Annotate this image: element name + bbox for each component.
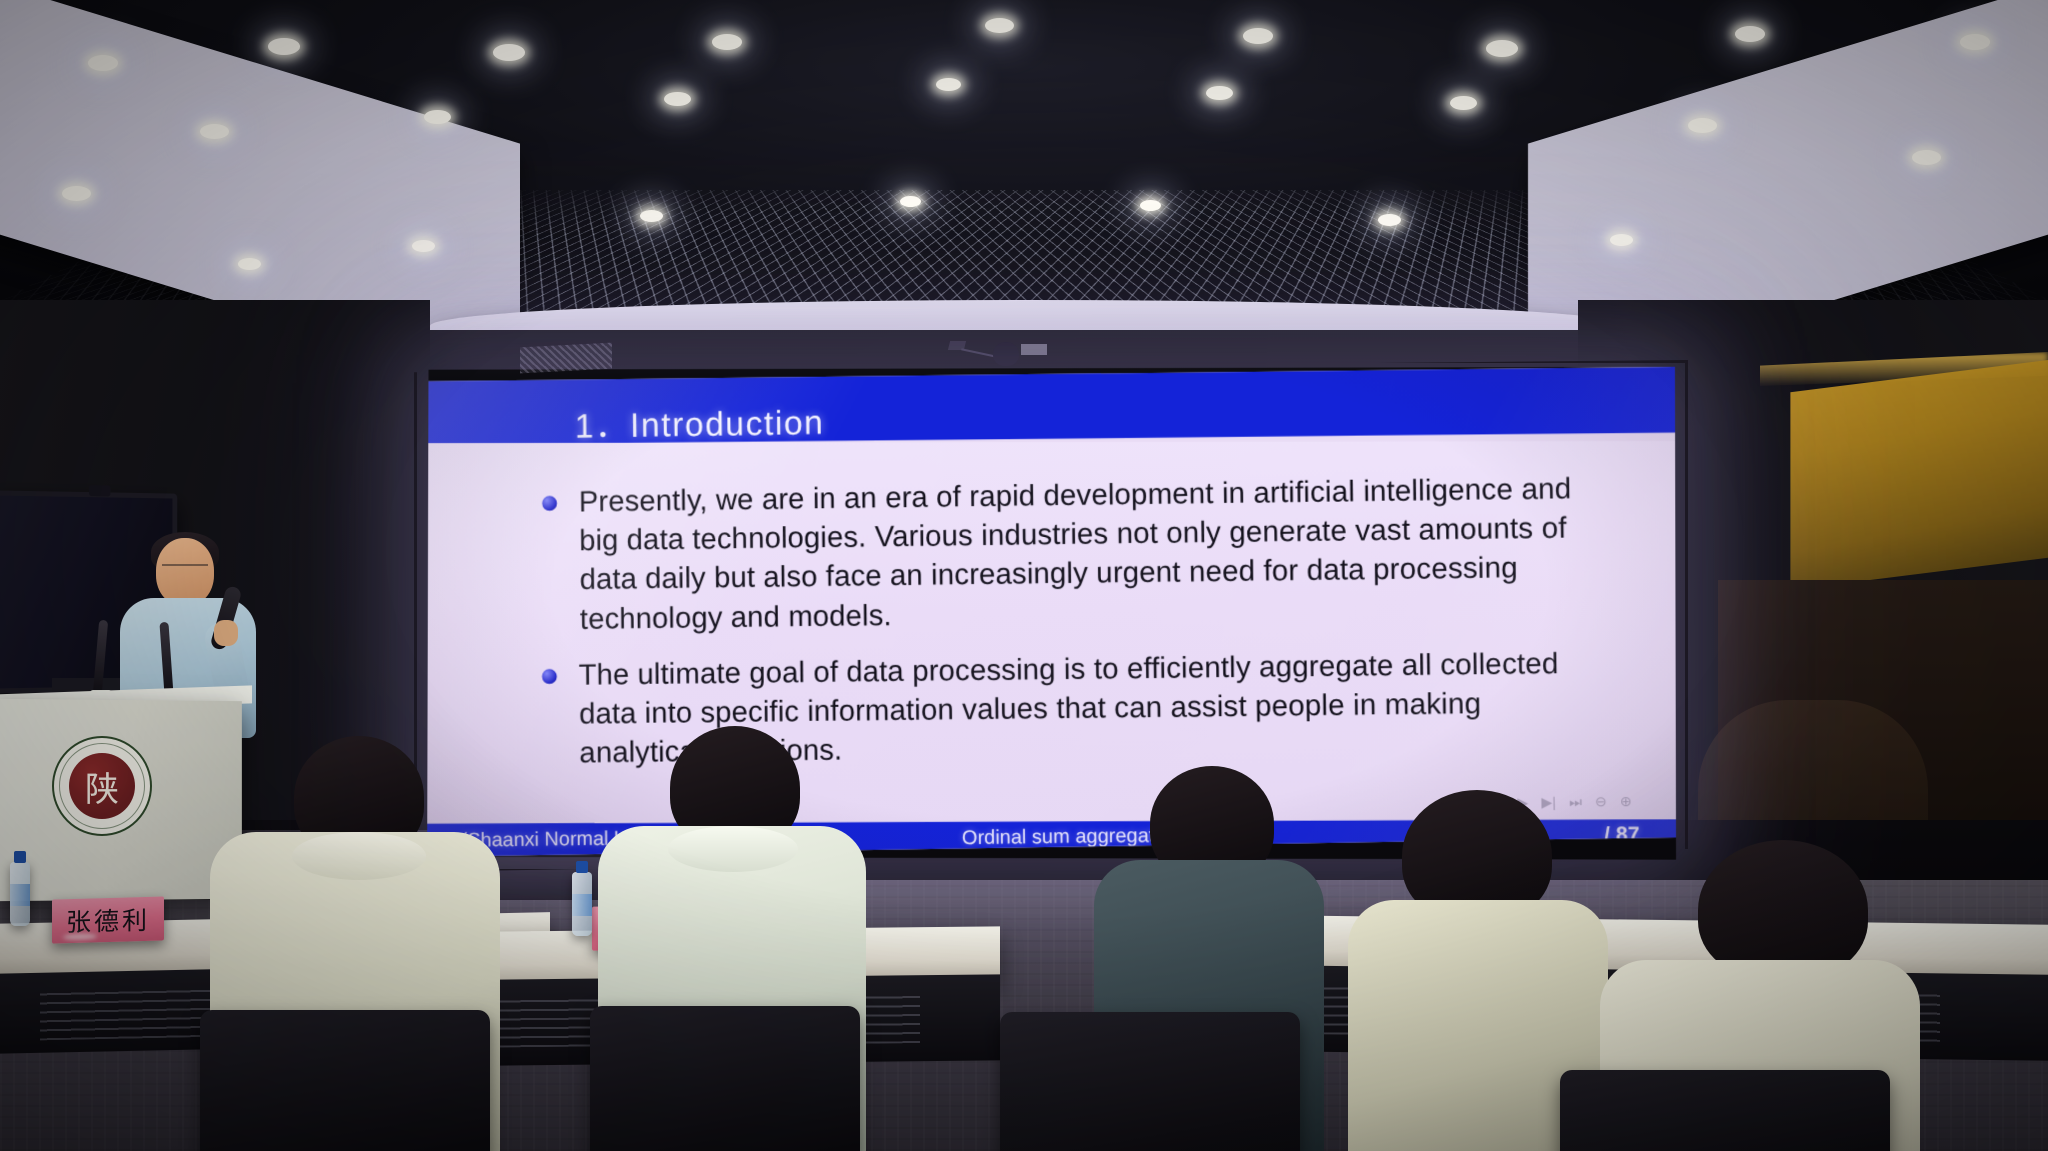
ceiling-downlight xyxy=(664,92,691,106)
ceiling-downlight xyxy=(268,38,300,55)
ceiling-downlight xyxy=(1378,214,1401,226)
ceiling-downlight xyxy=(1140,200,1161,211)
chair-front-center[interactable] xyxy=(590,1006,860,1151)
speaker-hand xyxy=(214,620,238,646)
slide-title: 1．Introduction xyxy=(574,395,824,447)
chair-front-left[interactable] xyxy=(200,1010,490,1151)
attendee-collar xyxy=(292,832,426,880)
chair-far-right[interactable] xyxy=(1560,1070,1890,1151)
water-bottle-1 xyxy=(10,862,30,926)
slide-bullet-1: Presently, we are in an era of rapid dev… xyxy=(542,469,1584,639)
chair-right-1[interactable] xyxy=(1000,1012,1300,1151)
ceiling-downlight xyxy=(493,44,525,61)
ceiling-downlight xyxy=(900,196,921,207)
ceiling-downlight xyxy=(985,18,1014,33)
ceiling-downlight xyxy=(62,186,91,201)
ceiling-downlight xyxy=(936,78,961,91)
ceiling-downlight xyxy=(1450,96,1477,110)
zoom-in-icon[interactable]: ⊕ xyxy=(1619,793,1631,810)
university-emblem: 陕 xyxy=(52,736,152,836)
wall-right-wood-panel xyxy=(1768,360,2048,590)
ceiling-downlight xyxy=(1486,40,1518,57)
camera-label-plate xyxy=(1021,344,1047,355)
ceiling-downlight xyxy=(424,110,451,124)
ceiling-downlight xyxy=(1688,118,1717,133)
lecture-hall-scene: 1．Introduction Presently, we are in an e… xyxy=(0,0,2048,1151)
bullet-marker-icon xyxy=(542,496,557,511)
ceiling-downlight xyxy=(1206,86,1233,100)
speaker-glasses-icon xyxy=(162,564,208,575)
ceiling-downlight xyxy=(412,240,435,252)
ceiling-downlight xyxy=(238,258,261,270)
name-placard-1: 张德利 xyxy=(52,896,164,943)
ceiling-downlight xyxy=(1912,150,1941,165)
ceiling-camera-icon xyxy=(993,342,1019,366)
water-bottle-3 xyxy=(572,872,592,936)
display-camera-icon xyxy=(89,485,111,496)
ceiling-downlight xyxy=(200,124,229,139)
ceiling-downlight xyxy=(1610,234,1633,246)
slide-bullet-1-text: Presently, we are in an era of rapid dev… xyxy=(579,469,1584,639)
camera-arm xyxy=(961,348,997,357)
emblem-outer-ring xyxy=(59,743,145,829)
ceiling-downlight xyxy=(640,210,663,222)
bullet-marker-icon xyxy=(542,669,557,684)
attendee-hair xyxy=(1698,840,1868,980)
ceiling-camera-mount xyxy=(955,340,1075,366)
attendee-collar xyxy=(668,826,798,872)
